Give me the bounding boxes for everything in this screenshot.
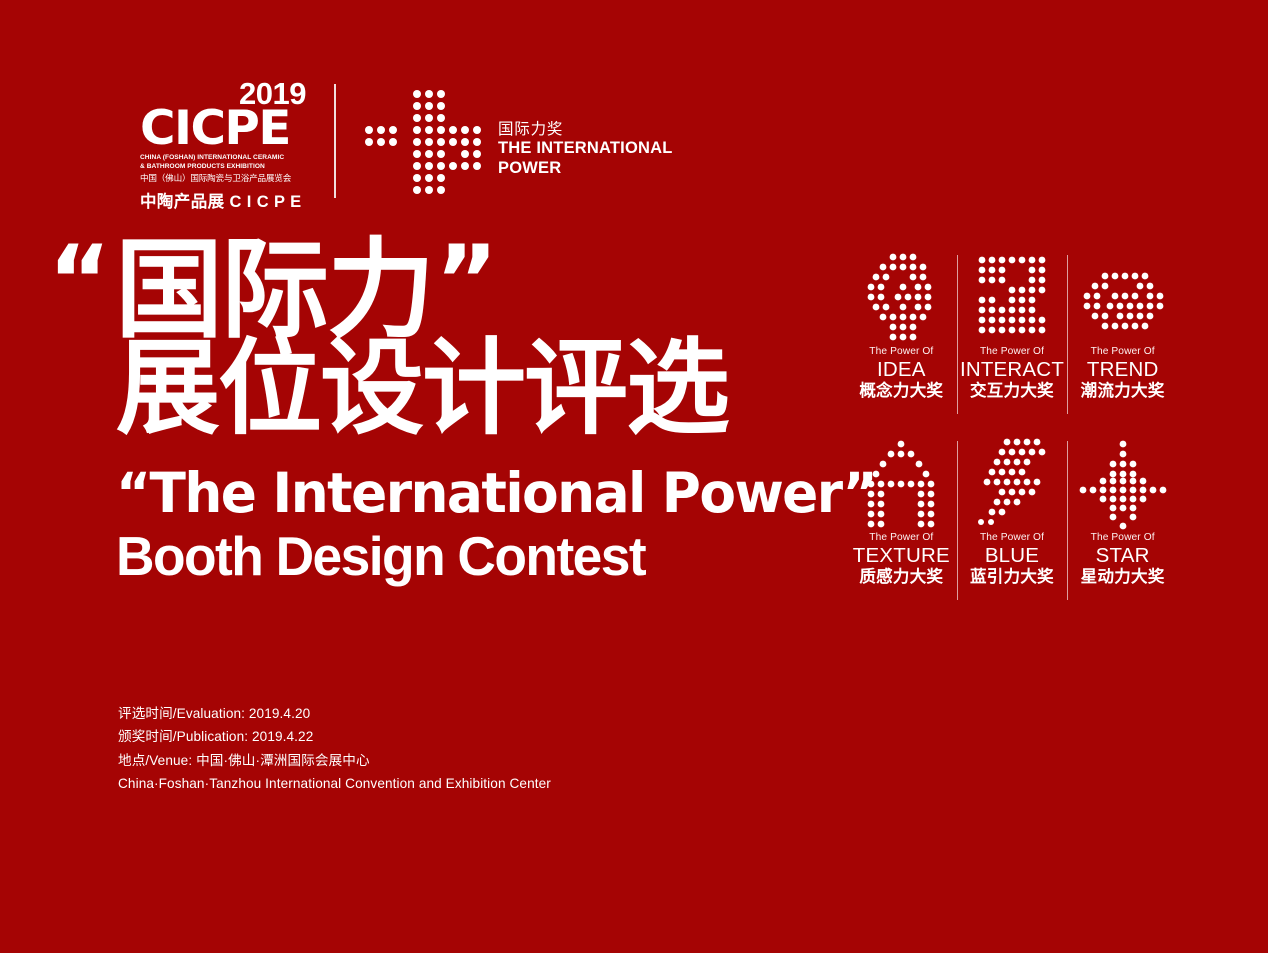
international-power-name-en-line1: THE INTERNATIONAL: [498, 140, 673, 158]
headline-en-block: “The International Power” Booth Design C…: [116, 462, 838, 589]
award-item-texture: The Power Of TEXTURE 质感力大奖: [846, 438, 957, 624]
award-item-idea: The Power Of IDEA 概念力大奖: [846, 252, 957, 438]
award-power-label: The Power Of: [869, 346, 933, 358]
cicpe-subtitle-cn: 中国（佛山）国际陶瓷与卫浴产品展览会: [140, 173, 308, 184]
award-name-cn: 概念力大奖: [859, 382, 943, 401]
cicpe-logo: 2019 CICPE CHINA (FOSHAN) INTERNATIONAL …: [140, 78, 308, 212]
award-item-trend: The Power Of TREND 潮流力大奖: [1067, 252, 1178, 438]
international-power-logo: 国际力奖 THE INTERNATIONAL POWER: [362, 82, 673, 207]
headline-en-line1: “The International Power”: [116, 462, 816, 525]
award-name-cn: 星动力大奖: [1081, 568, 1165, 587]
headline-en-line2: Booth Design Contest: [116, 525, 816, 588]
award-name-cn: 潮流力大奖: [1081, 382, 1165, 401]
award-name: INTERACT: [960, 359, 1064, 381]
number-two-dot-icon: [972, 252, 1052, 344]
award-name-cn: 蓝引力大奖: [970, 568, 1054, 587]
lightning-bolt-dot-icon: [973, 438, 1051, 530]
event-info-block: 评选时间/Evaluation: 2019.4.20 颁奖时间/Publicat…: [118, 702, 551, 796]
awards-grid: The Power Of IDEA 概念力大奖: [846, 252, 1178, 624]
award-item-interact: The Power Of INTERACT 交互力大奖: [957, 252, 1068, 438]
award-name-cn: 质感力大奖: [859, 568, 943, 587]
poster-canvas: 2019 CICPE CHINA (FOSHAN) INTERNATIONAL …: [0, 0, 1268, 953]
award-name: BLUE: [985, 545, 1039, 567]
international-power-name-en-line2: POWER: [498, 160, 673, 178]
award-name: TREND: [1087, 359, 1159, 381]
award-power-label: The Power Of: [1091, 532, 1155, 544]
cicpe-tagline: 中陶产品展 C I C P E: [140, 188, 308, 212]
info-evaluation-date: 评选时间/Evaluation: 2019.4.20: [118, 702, 551, 725]
cicpe-subtitle-en-line2: & BATHROOM PRODUCTS EXHIBITION: [140, 163, 310, 172]
headline-block: “ 国际力 ” 展位设计评选 “The International Power”…: [48, 236, 838, 589]
award-power-label: The Power Of: [869, 532, 933, 544]
award-name-cn: 交互力大奖: [970, 382, 1054, 401]
four-point-star-dot-icon: [1078, 438, 1168, 530]
award-item-star: The Power Of STAR 星动力大奖: [1067, 438, 1178, 624]
info-venue-cn: 地点/Venue: 中国·佛山·潭洲国际会展中心: [118, 749, 551, 772]
award-name: IDEA: [877, 359, 926, 381]
cicpe-wordmark: CICPE: [140, 106, 313, 151]
dot-matrix-tip-logo-icon: [362, 82, 482, 207]
headline-cn-line2: 展位设计评选: [116, 336, 838, 440]
award-power-label: The Power Of: [980, 532, 1044, 544]
info-publication-date: 颁奖时间/Publication: 2019.4.22: [118, 725, 551, 748]
quote-open-mark: “: [48, 236, 111, 327]
arch-letter-a-dot-icon: [862, 438, 940, 530]
international-power-name: 国际力奖 THE INTERNATIONAL POWER: [498, 121, 673, 178]
award-name: STAR: [1096, 545, 1150, 567]
header-logo-block: 2019 CICPE CHINA (FOSHAN) INTERNATIONAL …: [140, 78, 673, 203]
award-power-label: The Power Of: [1091, 346, 1155, 358]
award-power-label: The Power Of: [980, 346, 1044, 358]
award-item-blue: The Power Of BLUE 蓝引力大奖: [957, 438, 1068, 624]
cicpe-subtitle-en: CHINA (FOSHAN) INTERNATIONAL CERAMIC & B…: [140, 154, 310, 172]
quote-close-mark: ”: [435, 236, 498, 327]
header-vertical-divider: [334, 84, 336, 198]
eye-dot-icon: [1078, 252, 1168, 344]
lightbulb-dot-icon: [862, 252, 940, 344]
award-name: TEXTURE: [853, 545, 950, 567]
info-venue-en: China·Foshan·Tanzhou International Conve…: [118, 772, 551, 795]
international-power-name-cn: 国际力奖: [498, 121, 673, 138]
